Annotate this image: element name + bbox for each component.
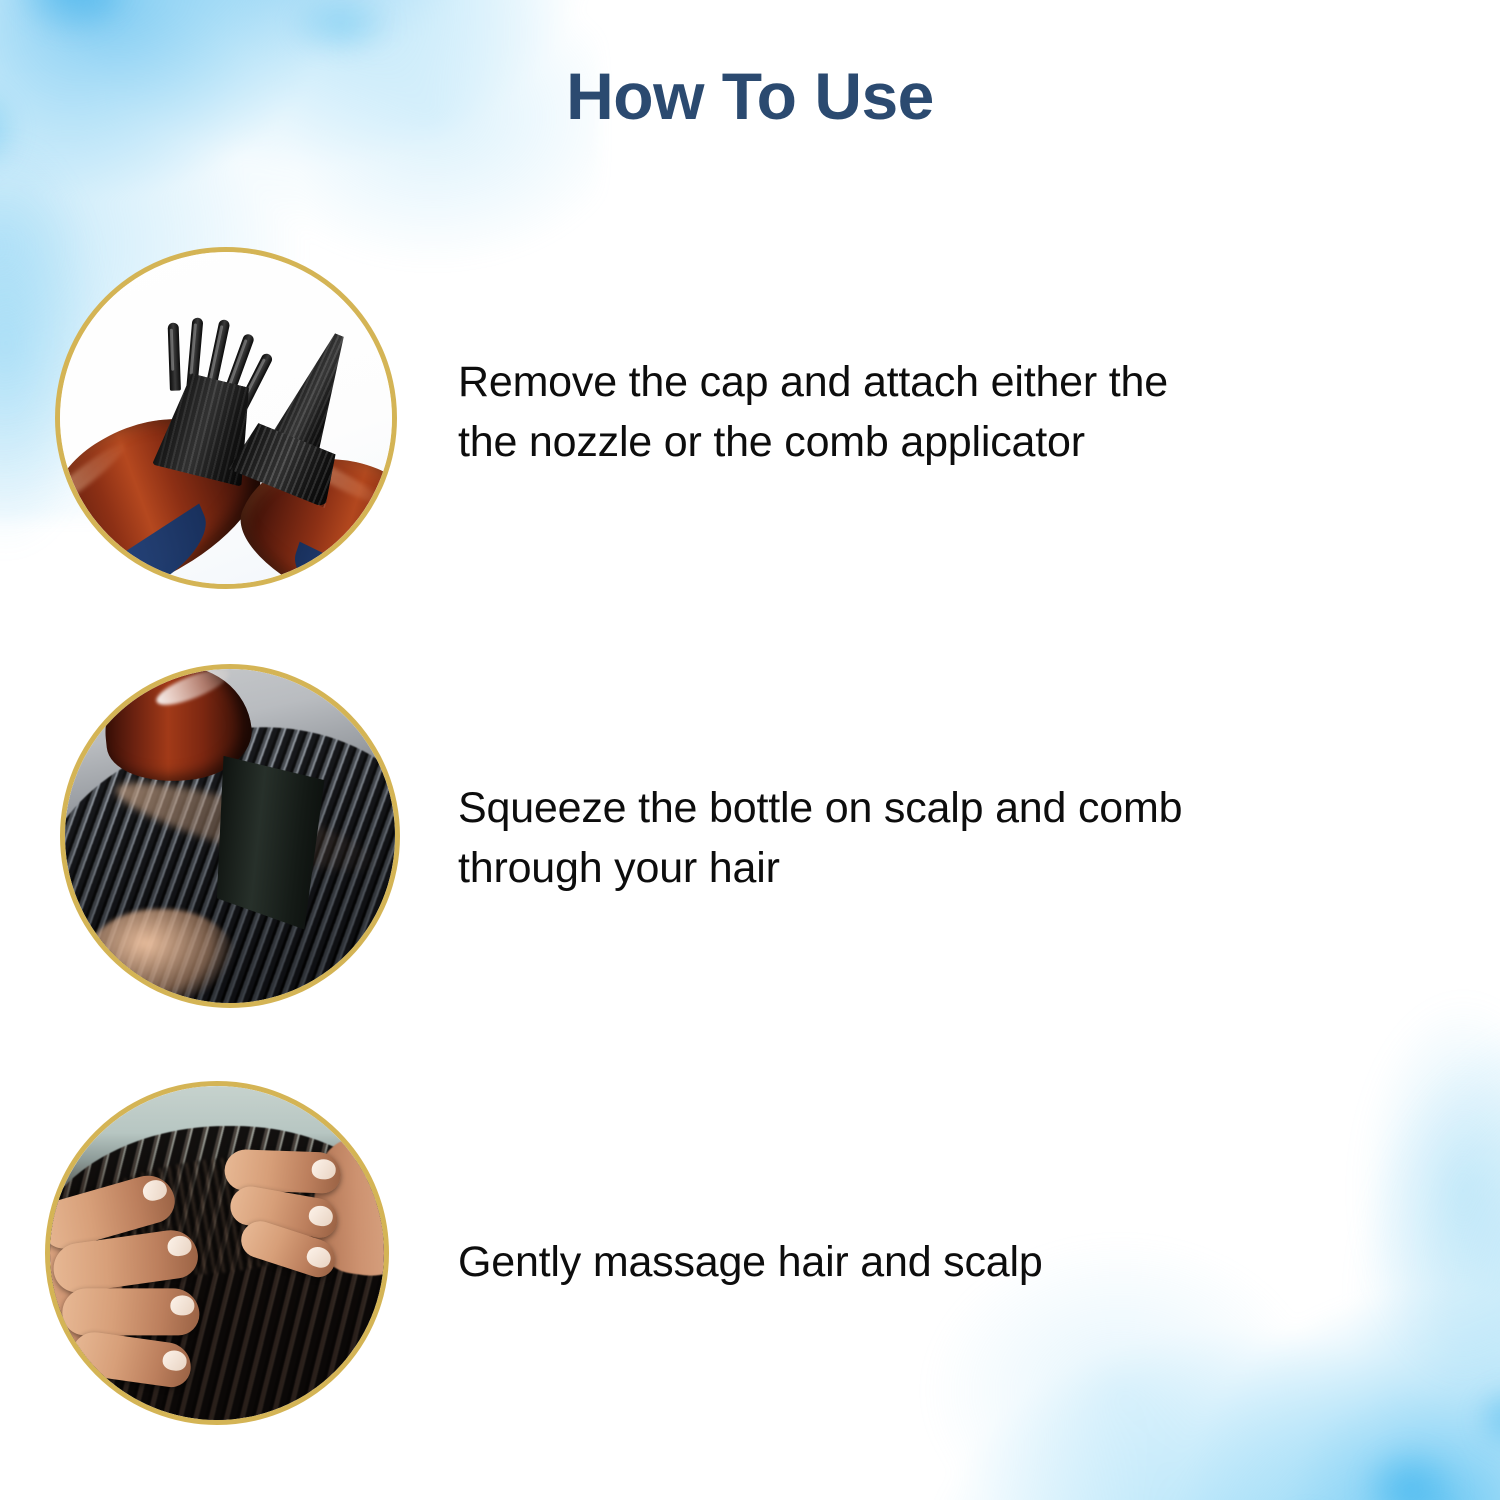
fingernail xyxy=(140,1177,169,1203)
comb-tooth xyxy=(168,323,181,391)
step-3-text: Gently massage hair and scalp xyxy=(458,1232,1398,1292)
watercolor-wash-right-edge xyxy=(1220,900,1500,1420)
fingernail xyxy=(161,1349,188,1372)
step-3-photo-scalp-massage xyxy=(50,1086,384,1420)
step-1-photo-ring xyxy=(55,247,397,589)
finger xyxy=(224,1148,341,1193)
fingernail xyxy=(166,1235,193,1258)
watercolor-speckle-bottom-right xyxy=(1040,1180,1500,1500)
step-3-photo-ring xyxy=(45,1081,389,1425)
step-2-photo-applying-to-scalp xyxy=(65,669,395,1003)
fingernail xyxy=(311,1158,336,1179)
watercolor-wash-bottom-right xyxy=(880,950,1500,1500)
fingernail xyxy=(305,1244,334,1270)
step-2-photo-ring xyxy=(60,664,400,1008)
left-hand-icon xyxy=(50,1163,229,1417)
step-1-photo-bottles-with-applicators xyxy=(60,252,392,584)
step-1-text: Remove the cap and attach either the the… xyxy=(458,352,1398,472)
finger xyxy=(62,1288,199,1335)
right-hand-icon xyxy=(205,1094,384,1305)
how-to-use-infographic: How To Use xyxy=(0,0,1500,1500)
step-2-text: Squeeze the bottle on scalp and comb thr… xyxy=(458,778,1398,898)
forehead-skin xyxy=(85,909,237,1003)
page-title: How To Use xyxy=(0,58,1500,134)
fingernail xyxy=(308,1204,335,1228)
fingernail xyxy=(170,1295,194,1315)
